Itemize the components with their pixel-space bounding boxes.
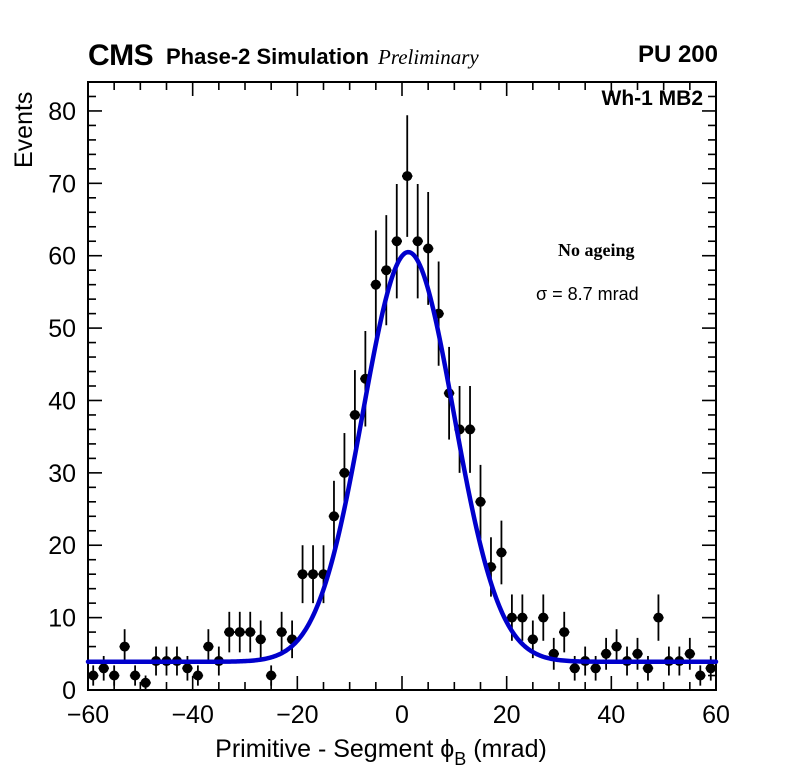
x-tick-label: −20 (276, 701, 318, 729)
y-tick-label: 10 (48, 605, 76, 633)
x-tick-label: 20 (493, 701, 521, 729)
data-point (570, 663, 580, 673)
data-point (695, 671, 705, 681)
data-point (496, 547, 506, 557)
data-point (120, 642, 130, 652)
y-tick-label: 30 (48, 460, 76, 488)
x-axis-title-suffix: (mrad) (466, 735, 547, 763)
data-point (528, 634, 538, 644)
y-tick-label: 0 (62, 677, 76, 705)
chart-svg: −60−40−200204060 01020304050607080 Event… (0, 0, 796, 772)
data-point (277, 627, 287, 637)
x-tick-label: 60 (702, 701, 730, 729)
data-point (381, 265, 391, 275)
y-tick-label: 70 (48, 170, 76, 198)
data-point (193, 671, 203, 681)
data-point (402, 171, 412, 181)
x-tick-label: 0 (395, 701, 409, 729)
data-point (329, 511, 339, 521)
x-tick-label: −40 (171, 701, 213, 729)
svg-text:Primitive - Segment ϕB (mrad): Primitive - Segment ϕB (mrad) (215, 735, 547, 769)
panel-corner-label: Wh-1 MB2 (602, 87, 704, 110)
chart-container: −60−40−200204060 01020304050607080 Event… (0, 0, 796, 772)
y-tick-label: 20 (48, 532, 76, 560)
data-point (109, 671, 119, 681)
data-point (130, 671, 140, 681)
x-axis-title-prefix: Primitive - Segment (215, 735, 440, 763)
data-point (517, 613, 527, 623)
data-point (141, 678, 151, 688)
data-point (633, 649, 643, 659)
x-axis-title-subscript: B (454, 749, 466, 769)
data-point (465, 424, 475, 434)
data-point (371, 280, 381, 290)
plot-frame (88, 82, 716, 690)
data-point (235, 627, 245, 637)
data-point (392, 236, 402, 246)
annotation-title: No ageing (558, 240, 635, 260)
data-point (653, 613, 663, 623)
data-point (298, 569, 308, 579)
y-axis-tick-labels: 01020304050607080 (48, 98, 76, 705)
y-tick-label: 40 (48, 387, 76, 415)
x-tick-label: −60 (67, 701, 109, 729)
data-point (256, 634, 266, 644)
data-point (559, 627, 569, 637)
plot-canvas: CMS Phase-2 Simulation Preliminary PU 20… (0, 0, 796, 772)
data-point (224, 627, 234, 637)
data-point (203, 642, 213, 652)
data-point (88, 671, 98, 681)
data-point (99, 663, 109, 673)
data-point (308, 569, 318, 579)
data-point (591, 663, 601, 673)
y-tick-label: 80 (48, 98, 76, 126)
data-point (612, 642, 622, 652)
data-point (266, 671, 276, 681)
data-point (182, 663, 192, 673)
x-axis-title: Primitive - Segment ϕB (mrad) (215, 735, 547, 769)
x-axis-ticks (88, 82, 716, 690)
x-axis-title-symbol: ϕ (440, 735, 454, 763)
data-point (476, 497, 486, 507)
y-axis-title: Events (10, 92, 38, 168)
data-point (339, 468, 349, 478)
x-axis-tick-labels: −60−40−200204060 (67, 701, 730, 729)
annotation-sigma: σ = 8.7 mrad (536, 284, 639, 304)
data-point (643, 663, 653, 673)
gaussian-fit-curve (88, 252, 716, 662)
data-point (601, 649, 611, 659)
data-point (706, 663, 716, 673)
y-tick-label: 60 (48, 243, 76, 271)
data-point (350, 410, 360, 420)
data-point (685, 649, 695, 659)
y-tick-label: 50 (48, 315, 76, 343)
data-point (413, 236, 423, 246)
data-point (245, 627, 255, 637)
y-axis-ticks (88, 82, 716, 690)
data-point (423, 243, 433, 253)
data-point (538, 613, 548, 623)
error-bars (88, 115, 716, 690)
x-tick-label: 40 (597, 701, 625, 729)
